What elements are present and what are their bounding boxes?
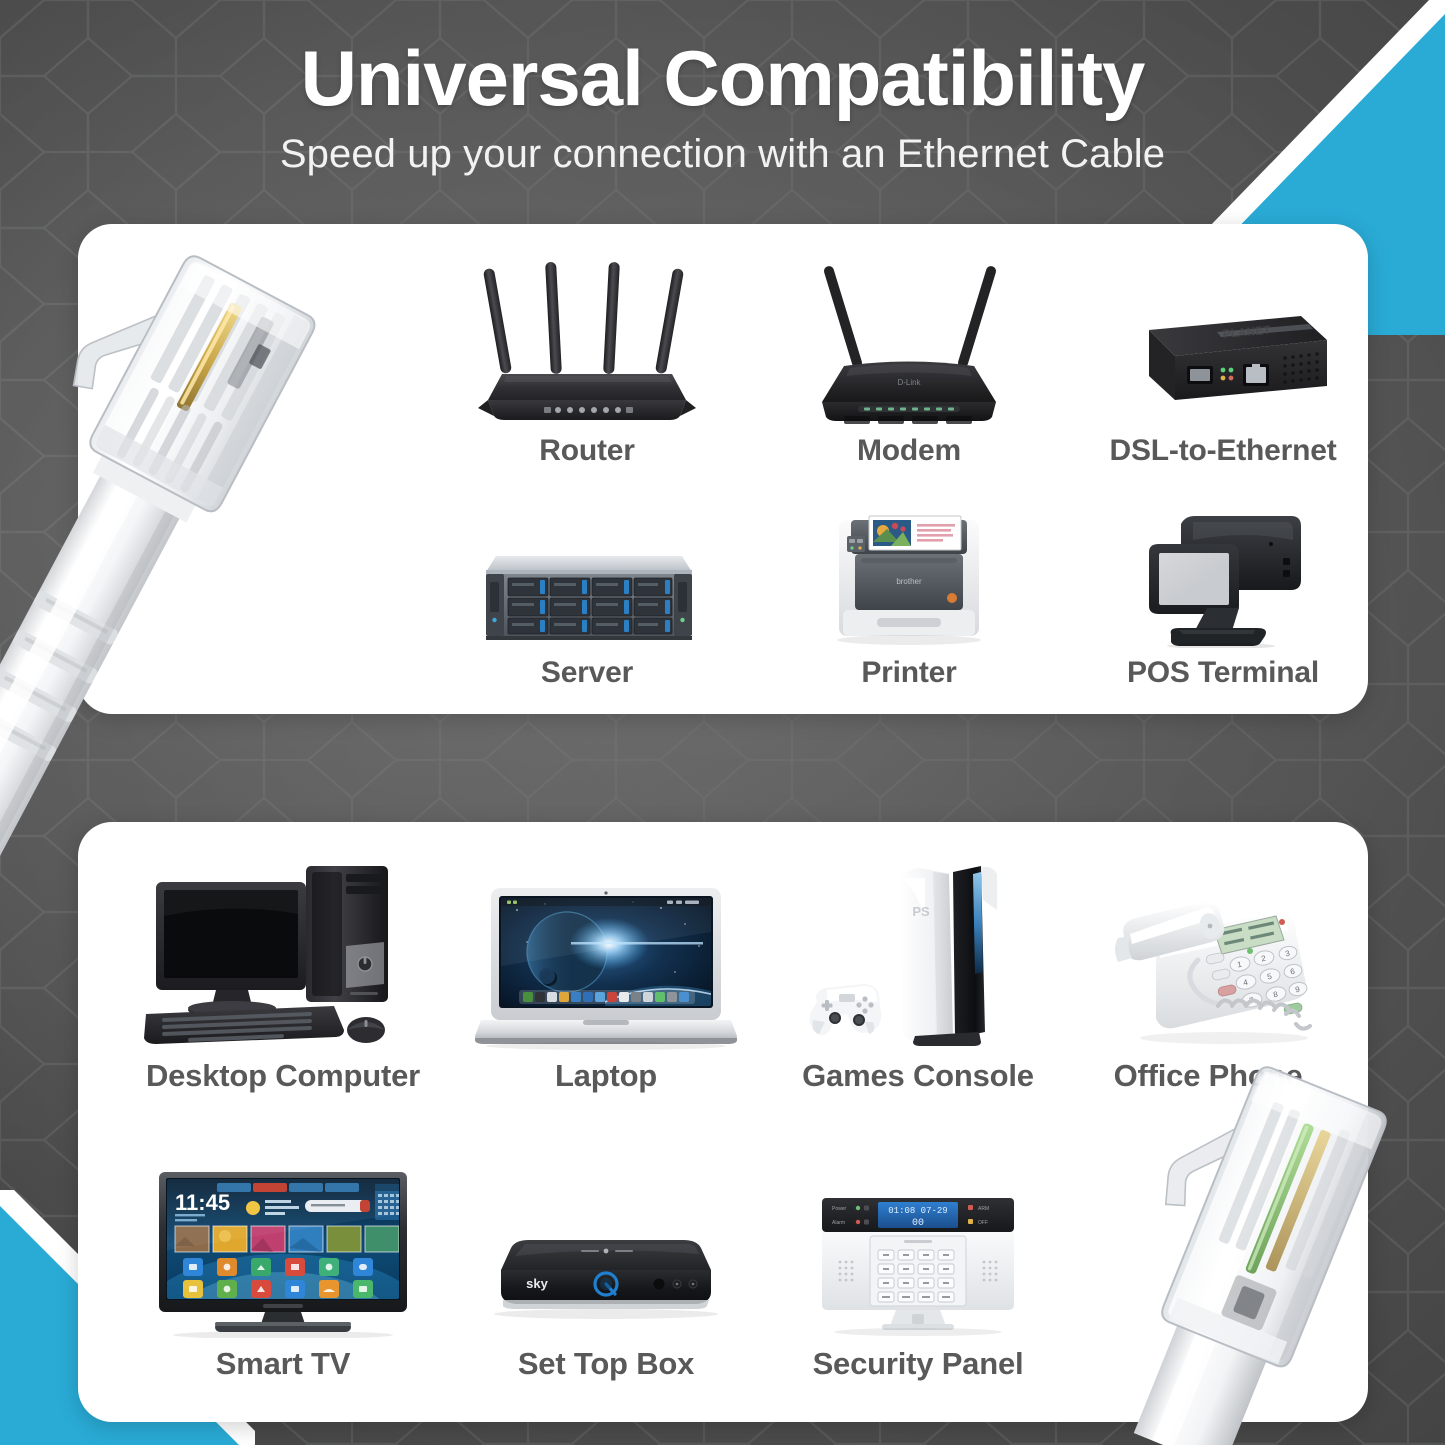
home-devices-panel: Desktop Computer [78, 822, 1368, 1422]
device-server: Server [456, 468, 718, 690]
device-laptop: Laptop [456, 834, 756, 1094]
device-desktop-computer: Desktop Computer [118, 834, 448, 1094]
security-panel-icon: 01:08 07-29 00 Power Alarm ARM [808, 1188, 1028, 1338]
header: Universal Compatibility Speed up your co… [0, 0, 1445, 177]
device-label: DSL-to-Ethernet [1110, 434, 1337, 468]
device-label: Games Console [802, 1058, 1034, 1094]
svg-text:D-Link: D-Link [897, 378, 921, 387]
device-label: Router [539, 434, 634, 468]
device-label: Smart TV [216, 1346, 351, 1382]
device-label: Office Phone [1114, 1058, 1303, 1094]
device-smart-tv: 11:45 [118, 1110, 448, 1382]
svg-text:PS: PS [912, 904, 930, 919]
device-label: Desktop Computer [146, 1058, 420, 1094]
business-devices-grid: Router [78, 224, 1368, 714]
page-title: Universal Compatibility [0, 38, 1445, 118]
smart-tv-icon: 11:45 [153, 1166, 413, 1338]
device-printer: brother Printer [778, 468, 1040, 690]
set-top-box-icon: sky [475, 1226, 737, 1338]
device-pos-terminal: POS Terminal [1078, 468, 1368, 690]
printer-icon: brother [825, 498, 993, 648]
laptop-icon [475, 880, 737, 1050]
device-modem: D-Link [778, 242, 1040, 468]
svg-text:brother: brother [896, 577, 922, 586]
business-devices-panel: Router [78, 224, 1368, 714]
desktop-computer-icon [138, 854, 428, 1050]
router-icon [472, 254, 702, 426]
device-label: Set Top Box [518, 1346, 694, 1382]
svg-text:Power: Power [832, 1206, 847, 1212]
device-label: POS Terminal [1127, 656, 1319, 690]
security-panel-display-line2: 00 [912, 1218, 924, 1229]
set-top-box-brand-label: sky [526, 1276, 548, 1291]
svg-text:Alarm: Alarm [832, 1220, 845, 1226]
device-security-panel: 01:08 07-29 00 Power Alarm ARM [768, 1110, 1068, 1382]
device-label: Server [541, 656, 633, 690]
modem-icon: D-Link [800, 254, 1018, 426]
device-label: Laptop [555, 1058, 657, 1094]
device-label: Modem [857, 434, 961, 468]
page-subtitle: Speed up your connection with an Etherne… [0, 132, 1445, 177]
device-set-top-box: sky [456, 1110, 756, 1382]
device-router: Router [456, 242, 718, 468]
svg-text:ARM: ARM [978, 1206, 989, 1212]
security-panel-display-line1: 01:08 07-29 [888, 1206, 947, 1216]
device-label: Printer [861, 656, 956, 690]
device-label: Security Panel [813, 1346, 1024, 1382]
server-icon [470, 540, 704, 648]
device-dsl-to-ethernet: PLANET [1078, 242, 1368, 468]
device-office-phone: 1 2 3 4 5 6 7 8 9 [1063, 834, 1353, 1094]
dsl-to-ethernet-icon: PLANET [1113, 296, 1333, 426]
office-phone-icon: 1 2 3 4 5 6 7 8 9 [1098, 878, 1318, 1050]
svg-text:OFF: OFF [978, 1220, 988, 1226]
home-devices-grid: Desktop Computer [78, 822, 1368, 1422]
device-games-console: PS [768, 834, 1068, 1094]
pos-terminal-icon [1135, 496, 1311, 648]
games-console-icon: PS [803, 852, 1033, 1050]
